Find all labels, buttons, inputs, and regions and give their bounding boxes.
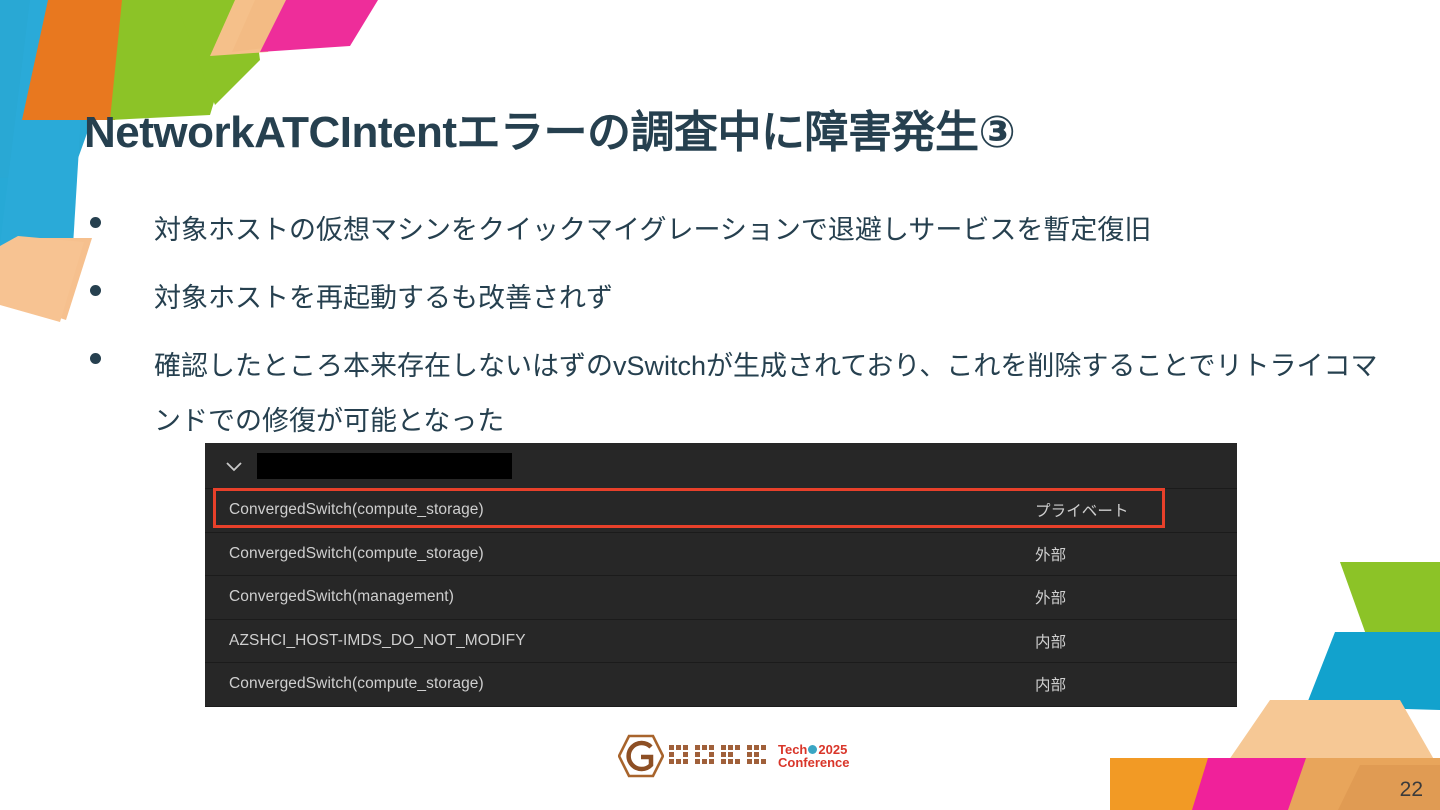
switch-name: ConvergedSwitch(management): [229, 588, 454, 606]
bullet-text: 対象ホストを再起動するも改善されず: [154, 271, 613, 326]
switch-name: AZSHCI_HOST-IMDS_DO_NOT_MODIFY: [229, 632, 526, 650]
gree-hex-logo-icon: [618, 734, 664, 778]
logo-dot-icon: [808, 745, 817, 754]
switch-type: 外部: [1035, 586, 1066, 608]
vswitch-table-screenshot: ConvergedSwitch(compute_storage) プライベート …: [205, 443, 1237, 707]
logo-tech-label: Tech: [778, 743, 807, 756]
logo-wordmark: Tech 2025 Conference: [668, 742, 850, 770]
table-row[interactable]: ConvergedSwitch(compute_storage) プライベート: [205, 489, 1237, 533]
logo-line-conference: Conference: [778, 756, 850, 769]
bullet-dot-icon: [90, 353, 101, 364]
switch-type: 内部: [1035, 673, 1066, 695]
bullet-text: 対象ホストの仮想マシンをクイックマイグレーションで退避しサービスを暫定復旧: [154, 203, 1151, 258]
page-title: NetworkATCIntentエラーの調査中に障害発生③: [84, 96, 1015, 160]
switch-name: ConvergedSwitch(compute_storage): [229, 545, 484, 563]
table-row[interactable]: ConvergedSwitch(compute_storage) 外部: [205, 533, 1237, 577]
list-item: 確認したところ本来存在しないはずのvSwitchが生成されており、これを削除する…: [90, 339, 1380, 449]
bullet-text: 確認したところ本来存在しないはずのvSwitchが生成されており、これを削除する…: [154, 339, 1380, 449]
page-number: 22: [1400, 778, 1423, 802]
tech-conference-text: Tech 2025 Conference: [778, 743, 850, 770]
switch-name: ConvergedSwitch(compute_storage): [229, 501, 484, 519]
table-row[interactable]: AZSHCI_HOST-IMDS_DO_NOT_MODIFY 内部: [205, 620, 1237, 664]
switch-type: 外部: [1035, 543, 1066, 565]
bullet-dot-icon: [90, 285, 101, 296]
list-item: 対象ホストを再起動するも改善されず: [90, 271, 1380, 326]
table-header-row: [205, 443, 1237, 489]
logo-line-tech: Tech 2025: [778, 743, 850, 756]
gree-wordmark-icon: [668, 742, 772, 770]
table-row[interactable]: ConvergedSwitch(management) 外部: [205, 576, 1237, 620]
switch-name: ConvergedSwitch(compute_storage): [229, 675, 484, 693]
bullet-dot-icon: [90, 217, 101, 228]
list-item: 対象ホストの仮想マシンをクイックマイグレーションで退避しサービスを暫定復旧: [90, 203, 1380, 258]
table-row[interactable]: ConvergedSwitch(compute_storage) 内部: [205, 663, 1237, 707]
switch-type: プライベート: [1035, 499, 1129, 521]
chevron-down-icon[interactable]: [223, 455, 245, 477]
slide: NetworkATCIntentエラーの調査中に障害発生③ 対象ホストの仮想マシ…: [0, 0, 1440, 810]
redacted-host-name: [257, 453, 512, 479]
gree-tech-conference-logo: Tech 2025 Conference: [618, 733, 833, 779]
logo-year-label: 2025: [818, 743, 847, 756]
switch-type: 内部: [1035, 630, 1066, 652]
bullet-list: 対象ホストの仮想マシンをクイックマイグレーションで退避しサービスを暫定復旧 対象…: [90, 203, 1380, 462]
